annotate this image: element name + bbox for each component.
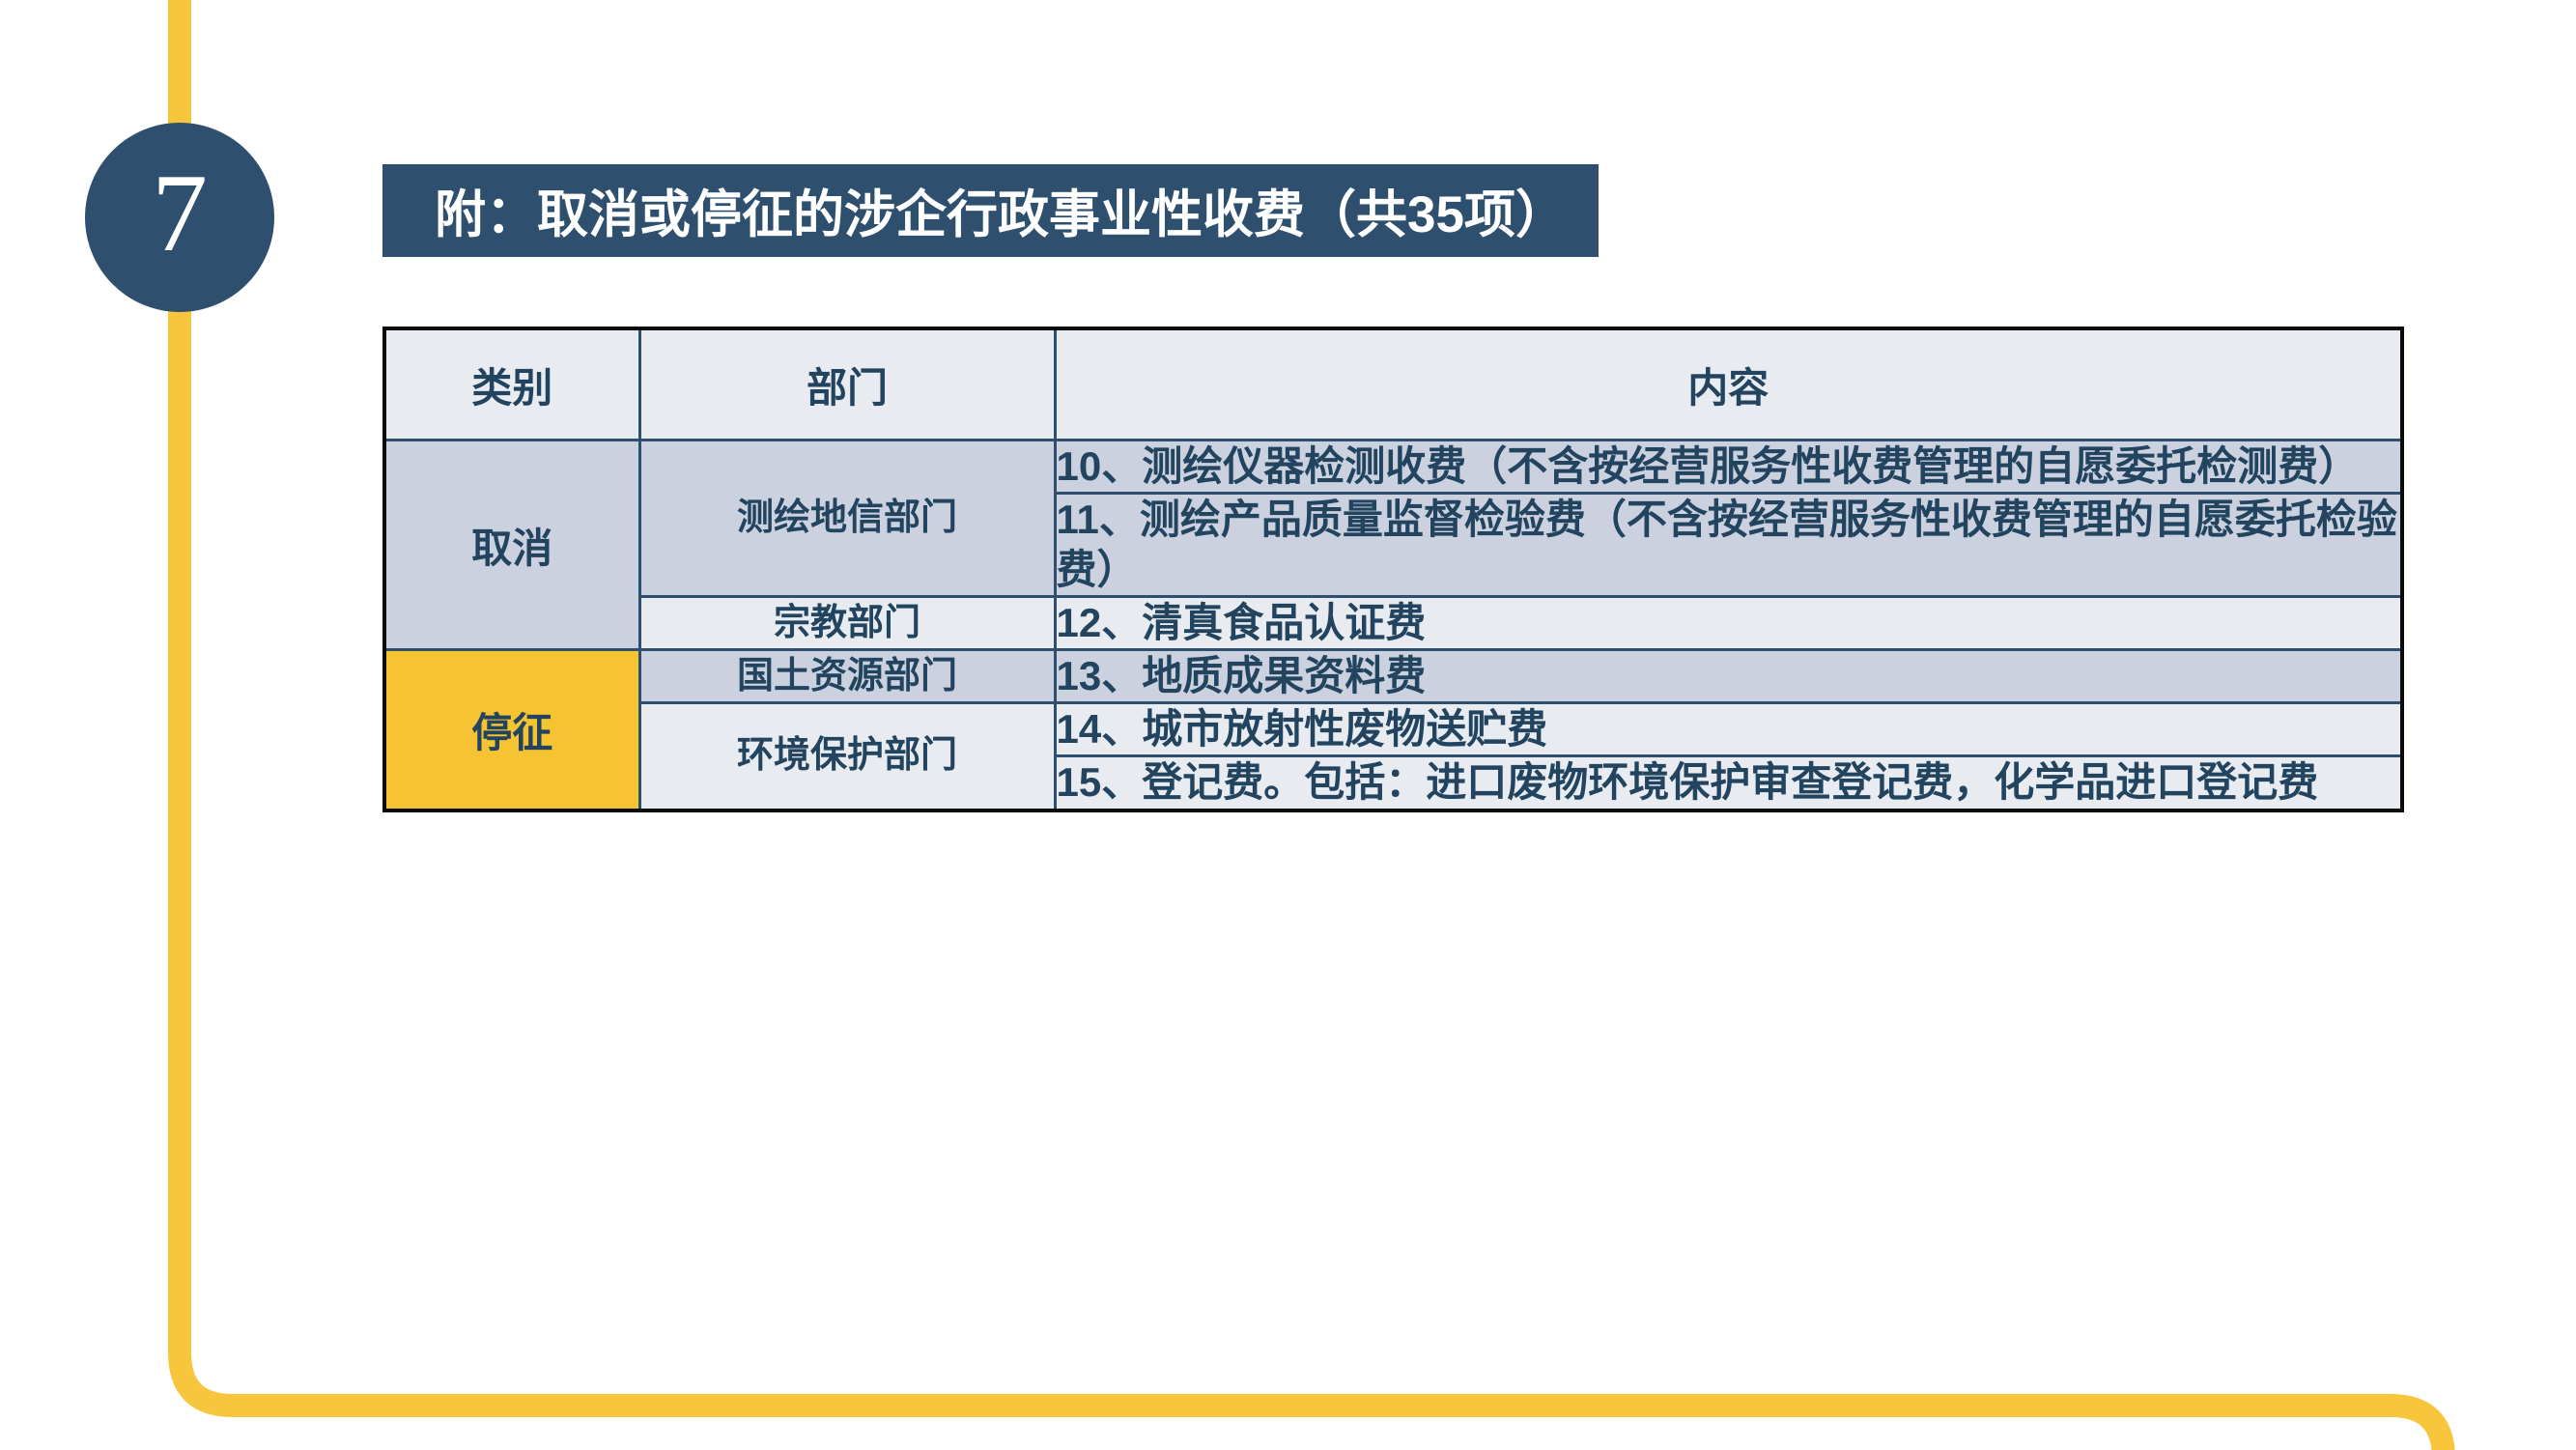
column-header-department: 部门 xyxy=(639,328,1055,441)
slide-canvas: 7 附：取消或停征的涉企行政事业性收费（共35项） 类别 部门 内容 取消测绘地… xyxy=(0,0,2576,1450)
table-row: 环境保护部门14、城市放射性废物送贮费 xyxy=(384,703,2402,756)
table-row: 停征国土资源部门13、地质成果资料费 xyxy=(384,650,2402,703)
content-cell: 10、测绘仪器检测收费（不含按经营服务性收费管理的自愿委托检测费） xyxy=(1055,441,2402,494)
table-header-row: 类别 部门 内容 xyxy=(384,328,2402,441)
department-cell: 测绘地信部门 xyxy=(639,441,1055,597)
fee-table: 类别 部门 内容 取消测绘地信部门10、测绘仪器检测收费（不含按经营服务性收费管… xyxy=(382,327,2404,812)
category-cell: 停征 xyxy=(384,650,639,810)
table-row: 取消测绘地信部门10、测绘仪器检测收费（不含按经营服务性收费管理的自愿委托检测费… xyxy=(384,441,2402,494)
slide-number-text: 7 xyxy=(152,157,208,277)
table-row: 宗教部门12、清真食品认证费 xyxy=(384,597,2402,650)
column-header-content: 内容 xyxy=(1055,328,2402,441)
column-header-category: 类别 xyxy=(384,328,639,441)
title-banner: 附：取消或停征的涉企行政事业性收费（共35项） xyxy=(382,164,1599,257)
slide-number-badge: 7 xyxy=(85,123,274,312)
department-cell: 宗教部门 xyxy=(639,597,1055,650)
content-cell: 15、登记费。包括：进口废物环境保护审查登记费，化学品进口登记费 xyxy=(1055,756,2402,810)
content-cell: 14、城市放射性废物送贮费 xyxy=(1055,703,2402,756)
table-body: 取消测绘地信部门10、测绘仪器检测收费（不含按经营服务性收费管理的自愿委托检测费… xyxy=(384,441,2402,810)
content-cell: 11、测绘产品质量监督检验费（不含按经营服务性收费管理的自愿委托检验费） xyxy=(1055,494,2402,597)
department-cell: 环境保护部门 xyxy=(639,703,1055,810)
content-cell: 13、地质成果资料费 xyxy=(1055,650,2402,703)
department-cell: 国土资源部门 xyxy=(639,650,1055,703)
page-title: 附：取消或停征的涉企行政事业性收费（共35项） xyxy=(382,174,1567,247)
content-cell: 12、清真食品认证费 xyxy=(1055,597,2402,650)
category-cell: 取消 xyxy=(384,441,639,650)
